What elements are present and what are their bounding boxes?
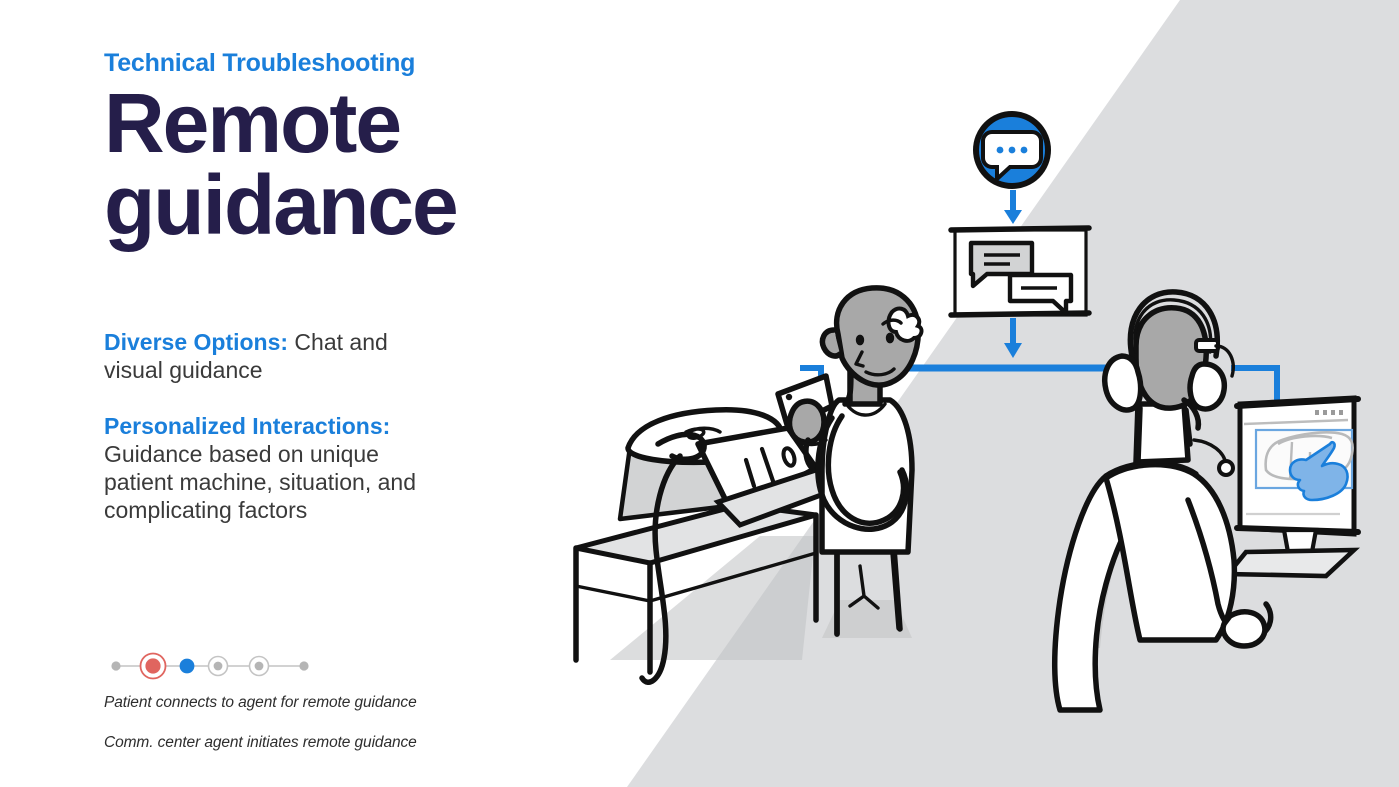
page-title: Remote guidance [104, 82, 574, 247]
bullet-body: Guidance based on unique patient machine… [104, 441, 416, 523]
step-fill-current [145, 658, 160, 673]
bullet-item: Diverse Options: Chat and visual guidanc… [104, 328, 434, 384]
heading-block: Technical Troubleshooting Remote guidanc… [104, 50, 574, 246]
step-dot-end[interactable] [299, 661, 308, 670]
chat-bubble-icon [976, 114, 1048, 186]
caption-block: Patient connects to agent for remote gui… [104, 694, 524, 752]
agent-monitor-with-video-feed [1228, 398, 1358, 576]
slide-root: Technical Troubleshooting Remote guidanc… [0, 0, 1399, 787]
arrow-down-icon-bottom [1004, 318, 1022, 358]
caption-line: Comm. center agent initiates remote guid… [104, 734, 524, 752]
step-inner-4 [255, 662, 264, 671]
home-dialysis-machine-on-table [576, 410, 840, 683]
bullet-lead: Diverse Options: [104, 329, 288, 355]
step-inner-3 [214, 662, 223, 671]
caption-line: Patient connects to agent for remote gui… [104, 694, 524, 712]
arrow-down-icon-top [1004, 190, 1022, 224]
step-dot-next[interactable] [180, 659, 195, 674]
bullet-list: Diverse Options: Chat and visual guidanc… [104, 328, 434, 524]
chat-conversation-window [951, 228, 1089, 315]
illustration-remote-guidance: .ink{fill:none;stroke:#111;stroke-width:… [540, 0, 1399, 787]
bullet-lead: Personalized Interactions: [104, 413, 390, 439]
bullet-item: Personalized Interactions: Guidance base… [104, 412, 434, 524]
eyebrow-label: Technical Troubleshooting [104, 50, 574, 78]
step-dot-start[interactable] [111, 661, 120, 670]
progress-stepper[interactable] [104, 648, 434, 684]
comm-center-agent-with-headset [1055, 292, 1358, 710]
